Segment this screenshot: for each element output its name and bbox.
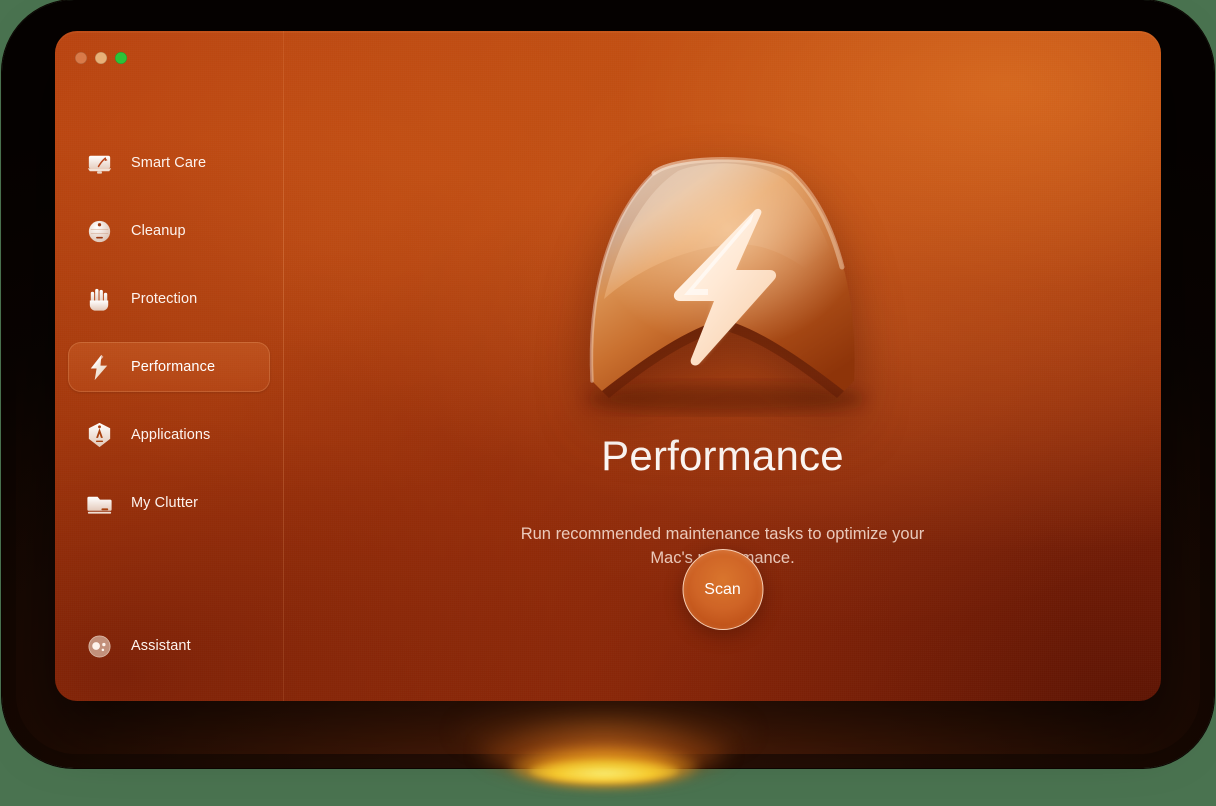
- sidebar-item-my-clutter[interactable]: My Clutter: [68, 478, 270, 528]
- minimize-window-button[interactable]: [95, 52, 107, 64]
- protection-icon: [84, 284, 115, 315]
- sidebar-item-applications[interactable]: Applications: [68, 410, 270, 460]
- traffic-lights: [75, 52, 127, 64]
- app-window: Smart Care Cleanup: [55, 31, 1161, 701]
- sidebar-item-protection[interactable]: Protection: [68, 274, 270, 324]
- sidebar-item-smart-care[interactable]: Smart Care: [68, 138, 270, 188]
- sidebar-item-cleanup[interactable]: Cleanup: [68, 206, 270, 256]
- applications-icon: [84, 420, 115, 451]
- scan-button[interactable]: Scan: [682, 549, 763, 630]
- sidebar-item-label: Performance: [131, 359, 215, 375]
- performance-icon: [84, 352, 115, 383]
- sidebar-item-label: Assistant: [131, 638, 191, 654]
- performance-hero-icon: [558, 149, 888, 417]
- sidebar-item-label: Cleanup: [131, 223, 186, 239]
- sidebar-item-label: Smart Care: [131, 155, 206, 171]
- sidebar-item-assistant[interactable]: Assistant: [68, 621, 270, 671]
- sidebar-nav-list: Smart Care Cleanup: [55, 138, 283, 546]
- main-content: Performance Run recommended maintenance …: [284, 31, 1161, 701]
- smart-care-icon: [84, 148, 115, 179]
- sidebar: Smart Care Cleanup: [55, 31, 284, 701]
- sidebar-item-label: My Clutter: [131, 495, 198, 511]
- sidebar-bottom-list: Assistant: [55, 621, 283, 671]
- my-clutter-icon: [84, 488, 115, 519]
- assistant-icon: [84, 631, 115, 662]
- close-window-button[interactable]: [75, 52, 87, 64]
- page-title: Performance: [601, 435, 844, 477]
- cleanup-icon: [84, 216, 115, 247]
- sidebar-item-label: Protection: [131, 291, 197, 307]
- screenshot-stage: Smart Care Cleanup: [0, 0, 1216, 806]
- sidebar-item-label: Applications: [131, 427, 210, 443]
- sidebar-item-performance[interactable]: Performance: [68, 342, 270, 392]
- maximize-window-button[interactable]: [115, 52, 127, 64]
